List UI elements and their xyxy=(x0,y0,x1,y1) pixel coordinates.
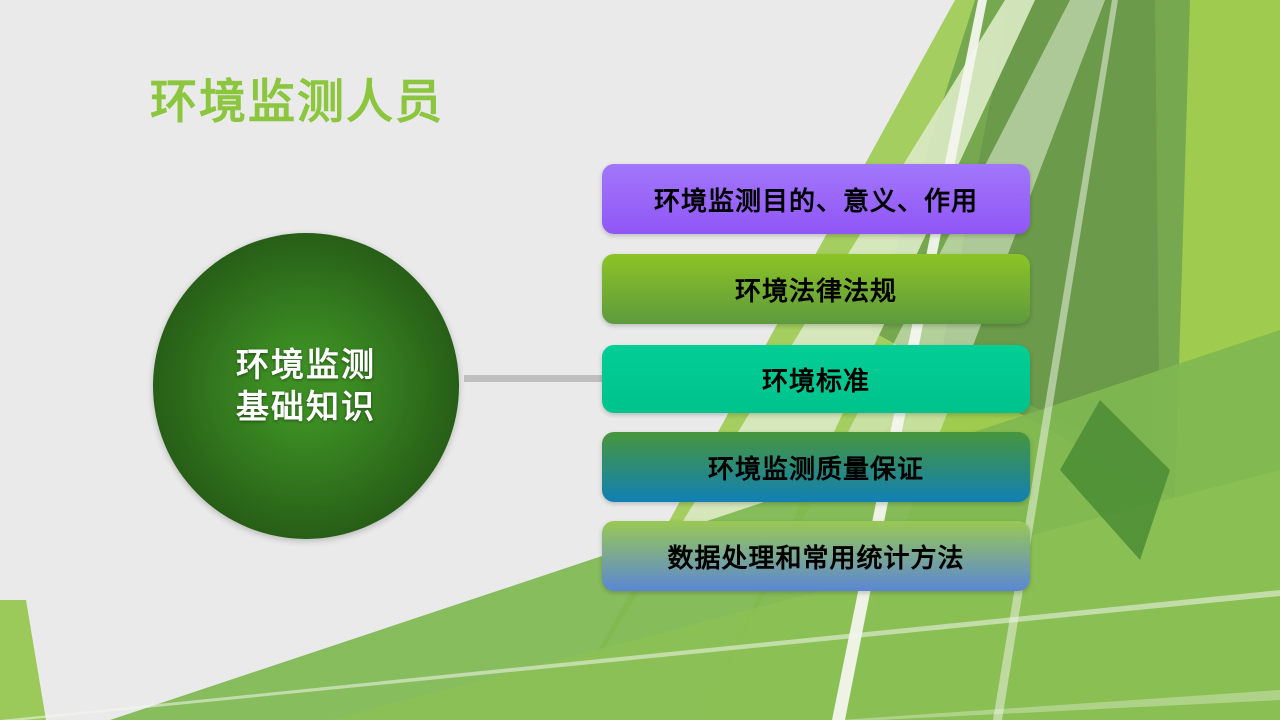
deco-stroke-white-4 xyxy=(840,690,1280,720)
presentation-slide: 环境监测人员 环境监测 基础知识 环境监测目的、意义、作用 环境法律法规 环境标… xyxy=(0,0,1280,720)
connector-line xyxy=(464,375,604,382)
deco-stroke-white-3 xyxy=(0,590,1280,720)
node-box-data-processing[interactable]: 数据处理和常用统计方法 xyxy=(602,521,1030,591)
deco-shape-green-diagonal2 xyxy=(330,470,1280,720)
node-box-label: 环境监测目的、意义、作用 xyxy=(654,181,978,218)
node-box-quality-assurance[interactable]: 环境监测质量保证 xyxy=(602,432,1030,502)
center-node-line-1: 环境监测 xyxy=(236,344,376,386)
node-box-label: 环境标准 xyxy=(762,361,870,398)
node-box-label: 环境法律法规 xyxy=(735,271,897,308)
deco-wedge-bottom-left xyxy=(0,600,46,720)
node-box-purpose[interactable]: 环境监测目的、意义、作用 xyxy=(602,164,1030,234)
node-box-laws[interactable]: 环境法律法规 xyxy=(602,254,1030,324)
deco-shape-olive-upper xyxy=(870,0,1190,500)
node-box-label: 数据处理和常用统计方法 xyxy=(667,538,964,575)
page-title: 环境监测人员 xyxy=(150,78,444,127)
center-circle-node[interactable]: 环境监测 基础知识 xyxy=(153,233,459,539)
node-box-standards[interactable]: 环境标准 xyxy=(602,345,1030,413)
node-box-label: 环境监测质量保证 xyxy=(708,449,924,486)
center-node-line-2: 基础知识 xyxy=(236,386,376,428)
deco-shape-dark-sliver xyxy=(1060,400,1170,560)
